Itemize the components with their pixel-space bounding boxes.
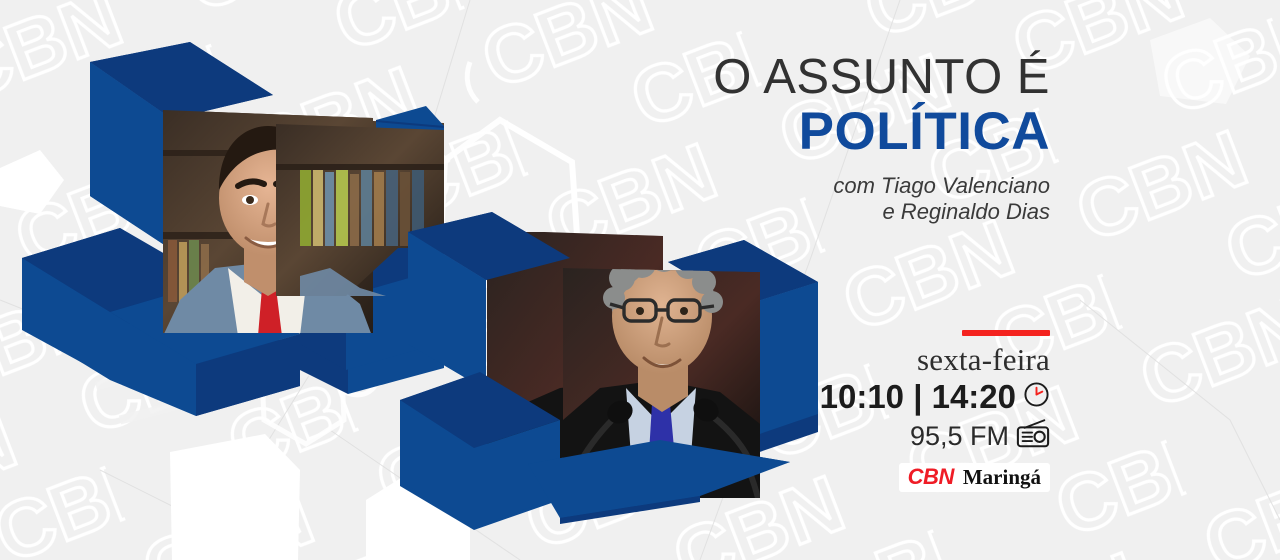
- frequency-row: 95,5 FM: [790, 419, 1050, 453]
- radio-frequency: 95,5 FM: [910, 422, 1009, 450]
- host-line-2: e Reginaldo Dias: [600, 199, 1050, 226]
- station-logo-wrap: CBN Maringá: [790, 453, 1050, 492]
- page-subtitle: POLÍTICA: [600, 104, 1050, 160]
- microphone-left: [570, 396, 637, 500]
- host-line-1: com Tiago Valenciano: [600, 173, 1050, 200]
- page-title: O ASSUNTO É: [600, 52, 1050, 102]
- radio-icon: [1016, 419, 1050, 453]
- title-block: O ASSUNTO É POLÍTICA com Tiago Valencian…: [600, 52, 1050, 226]
- cube-frame-right-front: [400, 212, 818, 528]
- cube-frame-left: [22, 42, 300, 416]
- portrait-tiago-panel-right: [268, 118, 448, 344]
- clock-icon: [1023, 381, 1050, 413]
- city-logo-text: Maringá: [963, 467, 1041, 488]
- schedule-block: sexta-feira 10:10 | 14:20 95,5 FM: [790, 330, 1050, 492]
- cube-frame-left-front: [268, 88, 444, 394]
- portrait-tiago-valenciano: [163, 108, 375, 336]
- cube-frame-left-overlay: [22, 42, 444, 416]
- red-divider: [962, 330, 1050, 336]
- cbn-logo-text: CBN: [908, 466, 954, 488]
- cbn-maringa-logo: CBN Maringá: [899, 463, 1050, 492]
- broadcast-times: 10:10 | 14:20: [820, 380, 1016, 415]
- banner-stage: CBN CBN: [0, 0, 1280, 560]
- broadcast-day: sexta-feira: [790, 344, 1050, 377]
- cube-frame-right: [400, 212, 818, 530]
- left-negative-space: [100, 108, 444, 330]
- broadcast-times-row: 10:10 | 14:20: [790, 380, 1050, 415]
- microphone-right: [689, 394, 758, 498]
- portrait-reginaldo-dias: [560, 244, 764, 506]
